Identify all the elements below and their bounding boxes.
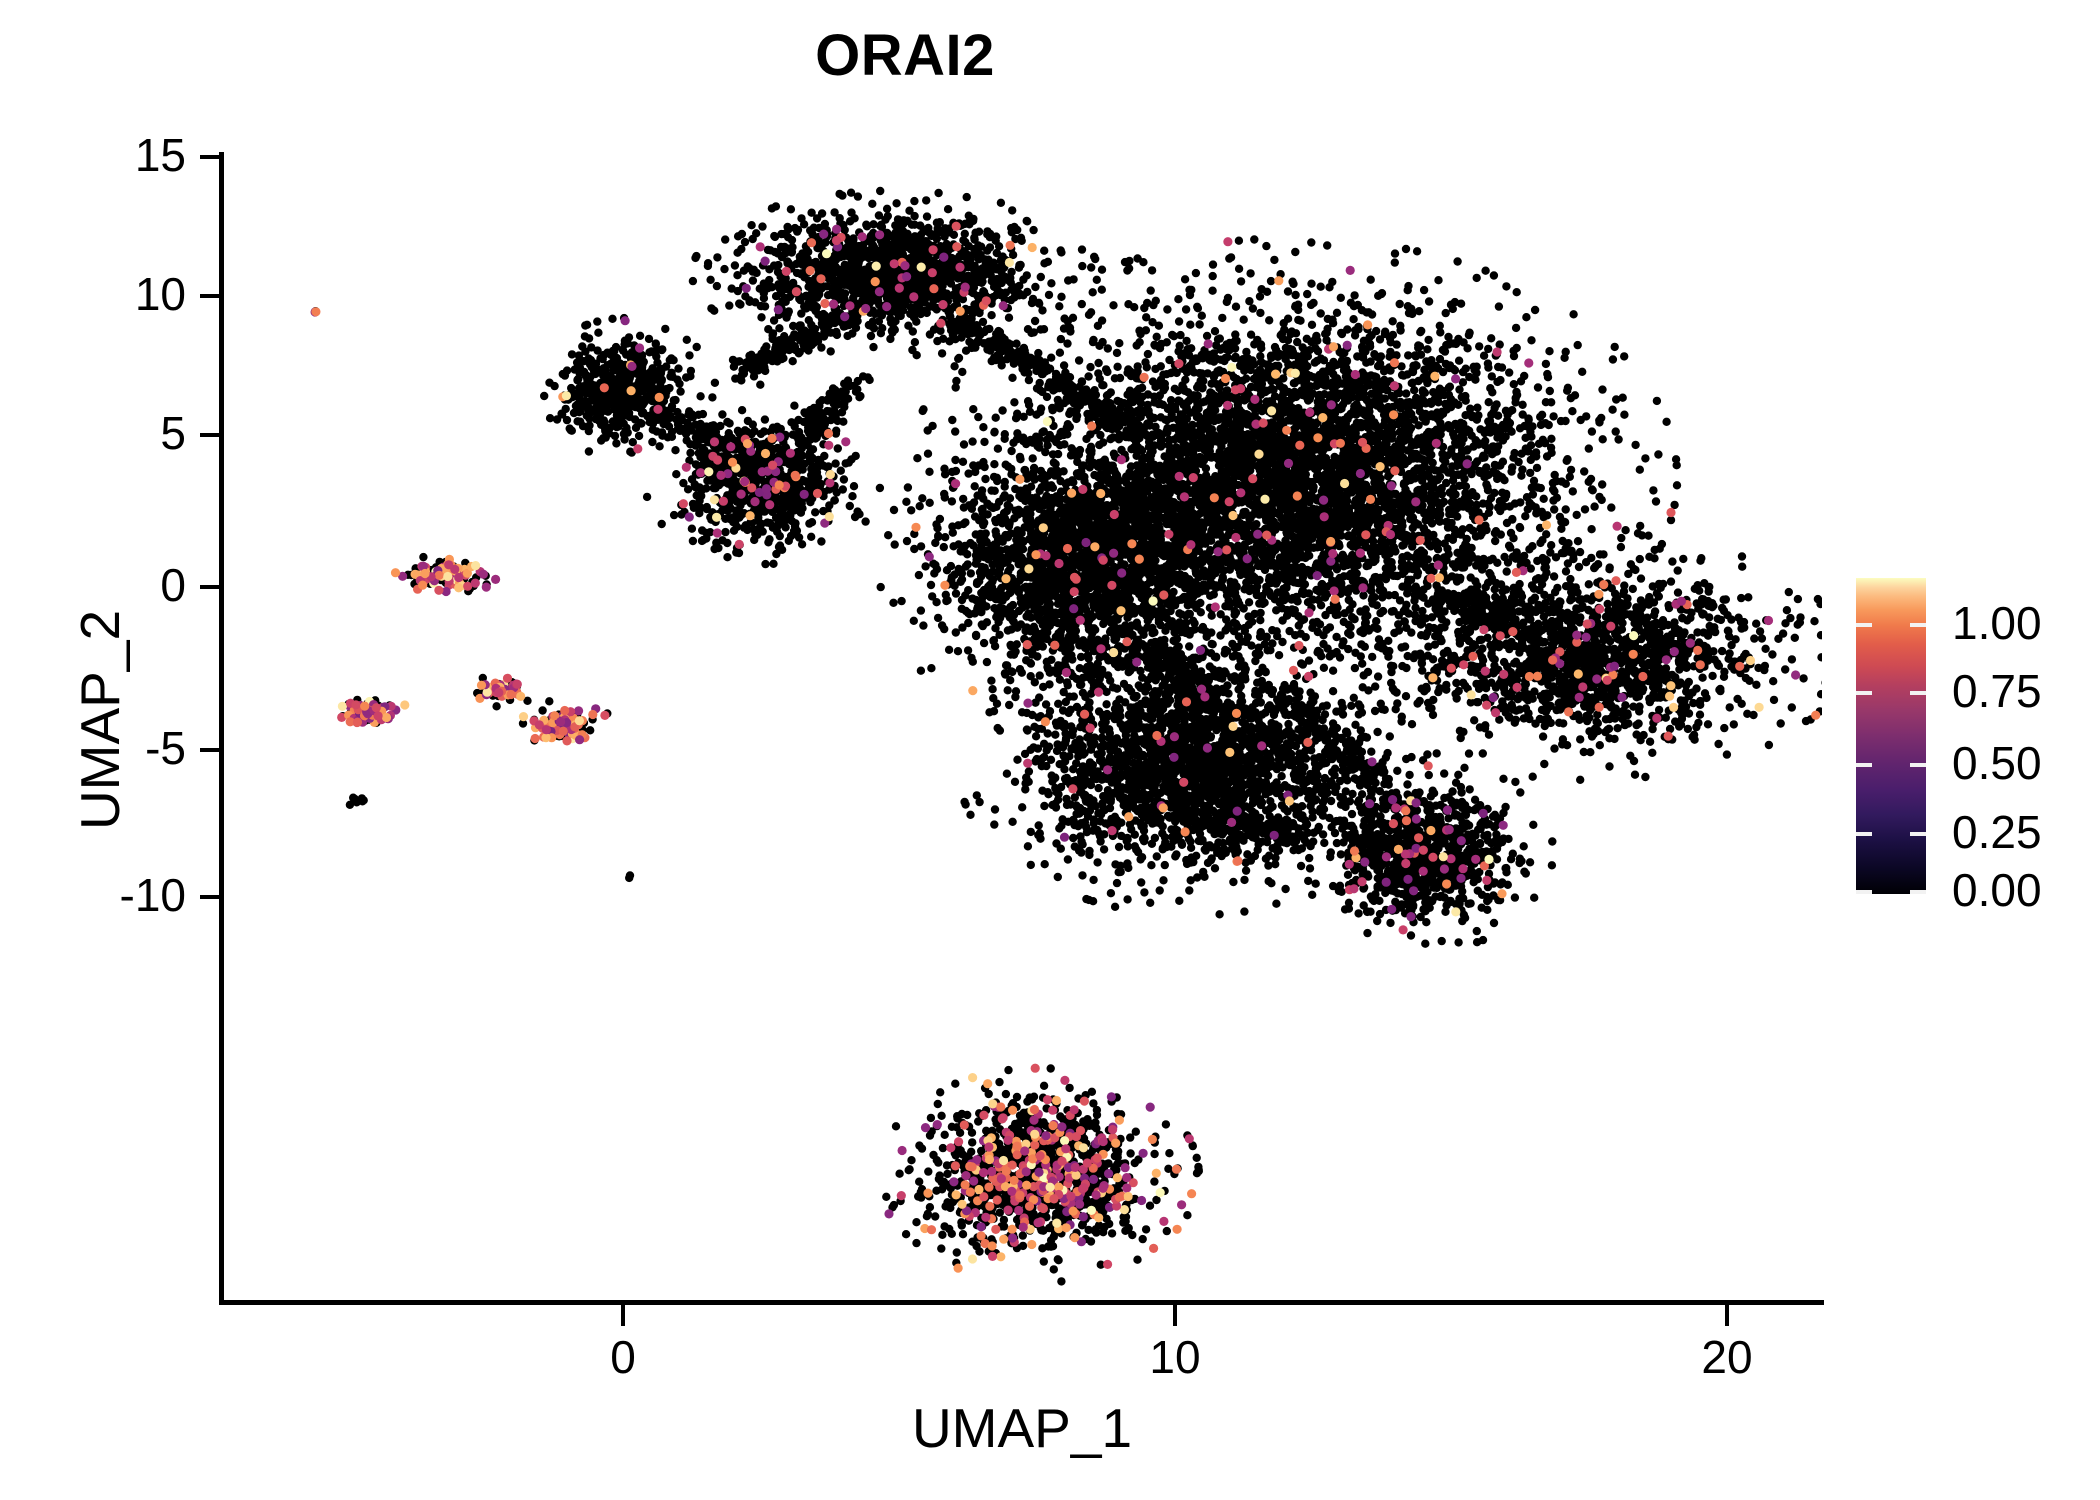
colorbar-tick-000-right [1910,890,1926,894]
colorbar-tick-075-right [1910,691,1926,695]
y-tick-15 [200,155,221,159]
plot-panel [222,120,1822,1303]
y-ticklabel-15: 15 [135,132,186,178]
colorbar-label-100: 1.00 [1952,600,2042,646]
colorbar-tick-075-left [1856,691,1872,695]
colorbar-tick-050-right [1910,763,1926,767]
y-tick-m10 [200,895,221,899]
x-tick-0 [621,1305,625,1326]
y-axis-line [219,152,224,1305]
y-ticklabel-m5: -5 [145,725,186,771]
colorbar-tick-100-right [1910,623,1926,627]
y-tick-0 [200,585,221,589]
colorbar-label-075: 0.75 [1952,668,2042,714]
colorbar-legend: 1.00 0.75 0.50 0.25 0.00 [1856,578,2086,898]
colorbar-tick-025-left [1856,832,1872,836]
y-ticklabel-5: 5 [160,410,186,456]
x-tick-10 [1173,1305,1177,1326]
colorbar-label-050: 0.50 [1952,740,2042,786]
y-tick-m5 [200,748,221,752]
x-tick-20 [1725,1305,1729,1326]
y-axis-title: UMAP_2 [68,370,132,1070]
x-axis-title: UMAP_1 [222,1396,1822,1460]
y-ticklabel-10: 10 [135,271,186,317]
x-axis-line [219,1300,1824,1305]
x-ticklabel-20: 20 [1701,1334,1752,1380]
page-title: ORAI2 [0,22,1810,89]
umap-feature-plot: ORAI2 15 10 5 0 -5 -10 0 10 20 UMAP_1 UM… [0,0,2100,1500]
y-ticklabel-0: 0 [160,562,186,608]
x-ticklabel-10: 10 [1149,1334,1200,1380]
colorbar-tick-100-left [1856,623,1872,627]
x-ticklabel-0: 0 [610,1334,636,1380]
colorbar-tick-000-left [1856,890,1872,894]
colorbar-label-025: 0.25 [1952,809,2042,855]
y-tick-5 [200,433,221,437]
y-tick-10 [200,294,221,298]
colorbar-tick-050-left [1856,763,1872,767]
colorbar-tick-025-right [1910,832,1926,836]
colorbar-label-000: 0.00 [1952,867,2042,913]
scatter-points [222,120,1822,1303]
